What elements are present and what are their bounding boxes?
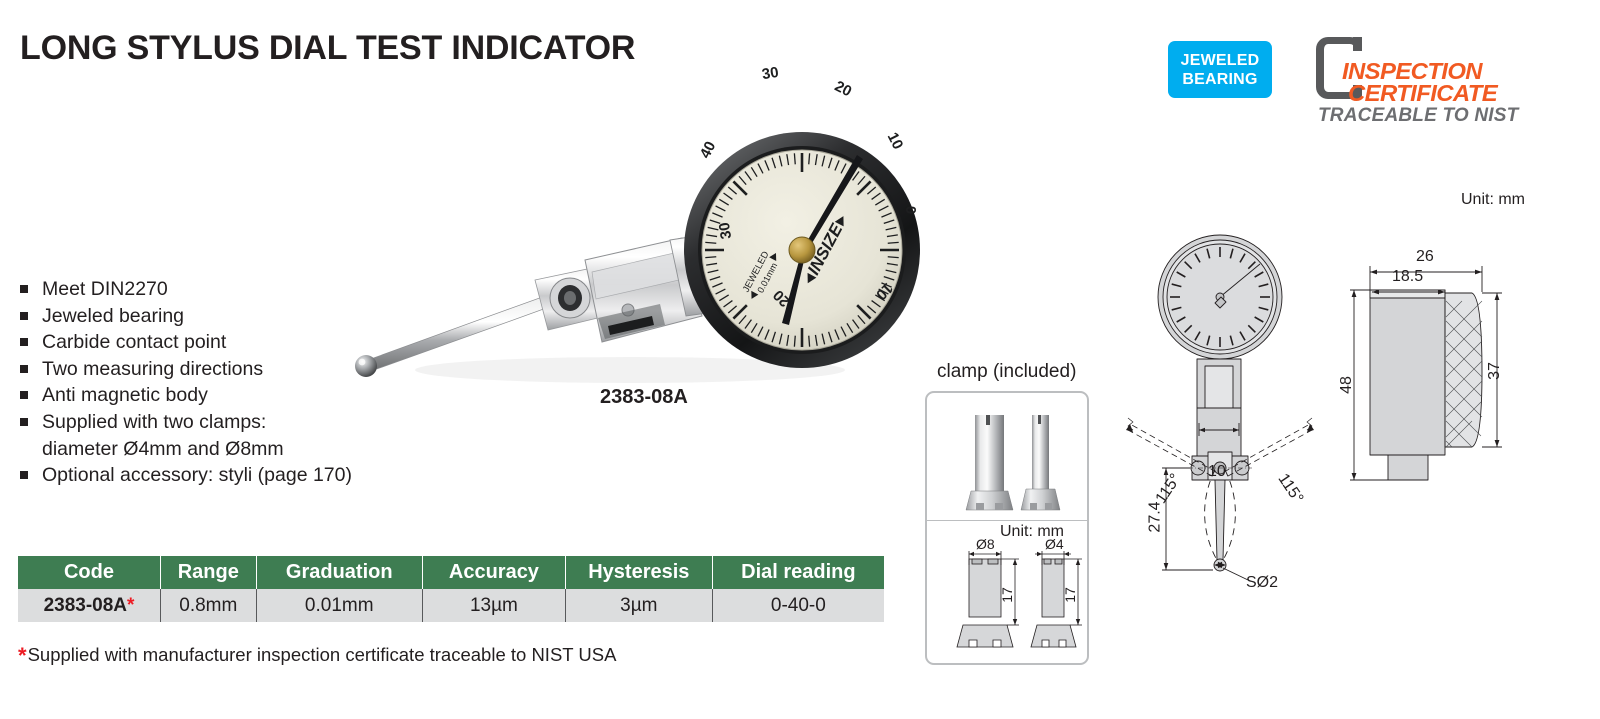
- cell-code-value: 2383-08A: [44, 595, 127, 616]
- svg-text:20: 20: [832, 78, 855, 101]
- feature-text: Anti magnetic body: [42, 384, 208, 406]
- code-asterisk: *: [127, 595, 134, 616]
- svg-text:0.01mm: 0.01mm: [755, 261, 779, 294]
- svg-text:30: 30: [761, 64, 780, 83]
- clamp-dim-d8: Ø8: [976, 536, 995, 552]
- footnote-text: Supplied with manufacturer inspection ce…: [28, 644, 617, 665]
- bullet-square-icon: [20, 471, 28, 479]
- dim-stylus-length: 27.4: [1147, 501, 1165, 532]
- clamp-caption: clamp (included): [937, 361, 1076, 383]
- catalog-page: LONG STYLUS DIAL TEST INDICATOR JEWELED …: [0, 0, 1600, 719]
- clamp-photos: [927, 397, 1087, 517]
- feature-text: Jeweled bearing: [42, 305, 184, 327]
- col-header-dial-reading: Dial reading: [712, 556, 884, 589]
- bullet-square-icon: [20, 391, 28, 399]
- dim-ball-dia: SØ2: [1246, 574, 1278, 592]
- jeweled-bearing-badge: JEWELED BEARING: [1168, 41, 1272, 98]
- clamp-panel: Unit: mm: [925, 391, 1089, 665]
- feature-text: Optional accessory: styli (page 170): [42, 464, 352, 486]
- clamp-height-right: 17: [1062, 587, 1078, 603]
- svg-text:40: 40: [697, 139, 720, 162]
- feature-item: Optional accessory: styli (page 170): [18, 462, 448, 489]
- svg-text:10: 10: [884, 130, 907, 153]
- feature-text: Two measuring directions: [42, 358, 263, 380]
- cell-dial-reading: 0-40-0: [712, 589, 884, 622]
- cell-range: 0.8mm: [160, 589, 256, 622]
- dim-bezel-height: 37: [1486, 362, 1504, 380]
- cell-code: 2383-08A*: [18, 589, 160, 622]
- product-photo: 0 10 20 30 40 30 20 10 INSIZE JEWELED 0.…: [330, 120, 910, 390]
- bullet-square-icon: [20, 365, 28, 373]
- feature-text: Carbide contact point: [42, 331, 226, 353]
- table-header-row: Code Range Graduation Accuracy Hysteresi…: [18, 556, 884, 589]
- svg-text:JEWELED: JEWELED: [741, 249, 772, 294]
- col-header-graduation: Graduation: [256, 556, 422, 589]
- angle-right: 115°: [1274, 471, 1307, 508]
- svg-text:INSIZE: INSIZE: [804, 220, 847, 278]
- dim-body-depth: 18.5: [1392, 268, 1423, 286]
- clamp-panel-divider: [927, 520, 1087, 521]
- col-header-accuracy: Accuracy: [422, 556, 565, 589]
- feature-text: Supplied with two clamps:: [42, 411, 266, 433]
- feature-text: Meet DIN2270: [42, 278, 168, 300]
- jeweled-badge-line2: BEARING: [1182, 70, 1257, 89]
- svg-text:20: 20: [770, 286, 794, 310]
- svg-text:0: 0: [902, 206, 919, 214]
- bullet-square-icon: [20, 338, 28, 346]
- clamp-dim-d4: Ø4: [1045, 536, 1064, 552]
- technical-drawings: 10 27.4 SØ2 115° 115° 26 18.5 37 48: [1120, 180, 1600, 680]
- table-row: 2383-08A* 0.8mm 0.01mm 13µm 3µm 0-40-0: [18, 589, 884, 622]
- col-header-code: Code: [18, 556, 160, 589]
- col-header-hysteresis: Hysteresis: [565, 556, 712, 589]
- footnote-asterisk: *: [18, 643, 27, 668]
- inspection-certificate-logo: INSPECTION CERTIFICATE TRACEABLE TO NIST: [1306, 33, 1538, 125]
- certificate-line2: CERTIFICATE: [1348, 80, 1497, 107]
- product-model-label: 2383-08A: [600, 386, 688, 409]
- jeweled-badge-line1: JEWELED: [1181, 51, 1260, 70]
- bullet-square-icon: [20, 285, 28, 293]
- col-header-range: Range: [160, 556, 256, 589]
- svg-text:10: 10: [872, 279, 896, 303]
- bullet-square-icon: [20, 312, 28, 320]
- clamp-height-left: 17: [999, 587, 1015, 603]
- svg-text:30: 30: [716, 221, 735, 240]
- bullet-square-icon: [20, 418, 28, 426]
- spec-table: Code Range Graduation Accuracy Hysteresi…: [18, 556, 884, 622]
- dim-overall-height: 48: [1338, 376, 1356, 394]
- dim-body-width: 10: [1208, 463, 1226, 481]
- cell-hysteresis: 3µm: [565, 589, 712, 622]
- feature-text-continued: diameter Ø4mm and Ø8mm: [42, 436, 448, 463]
- table-footnote: *Supplied with manufacturer inspection c…: [18, 643, 616, 669]
- page-title: LONG STYLUS DIAL TEST INDICATOR: [20, 29, 635, 68]
- cell-graduation: 0.01mm: [256, 589, 422, 622]
- feature-item: Supplied with two clamps: diameter Ø4mm …: [18, 409, 448, 462]
- cell-accuracy: 13µm: [422, 589, 565, 622]
- dim-total-depth: 26: [1416, 248, 1434, 266]
- certificate-traceable-text: TRACEABLE TO NIST: [1318, 105, 1518, 127]
